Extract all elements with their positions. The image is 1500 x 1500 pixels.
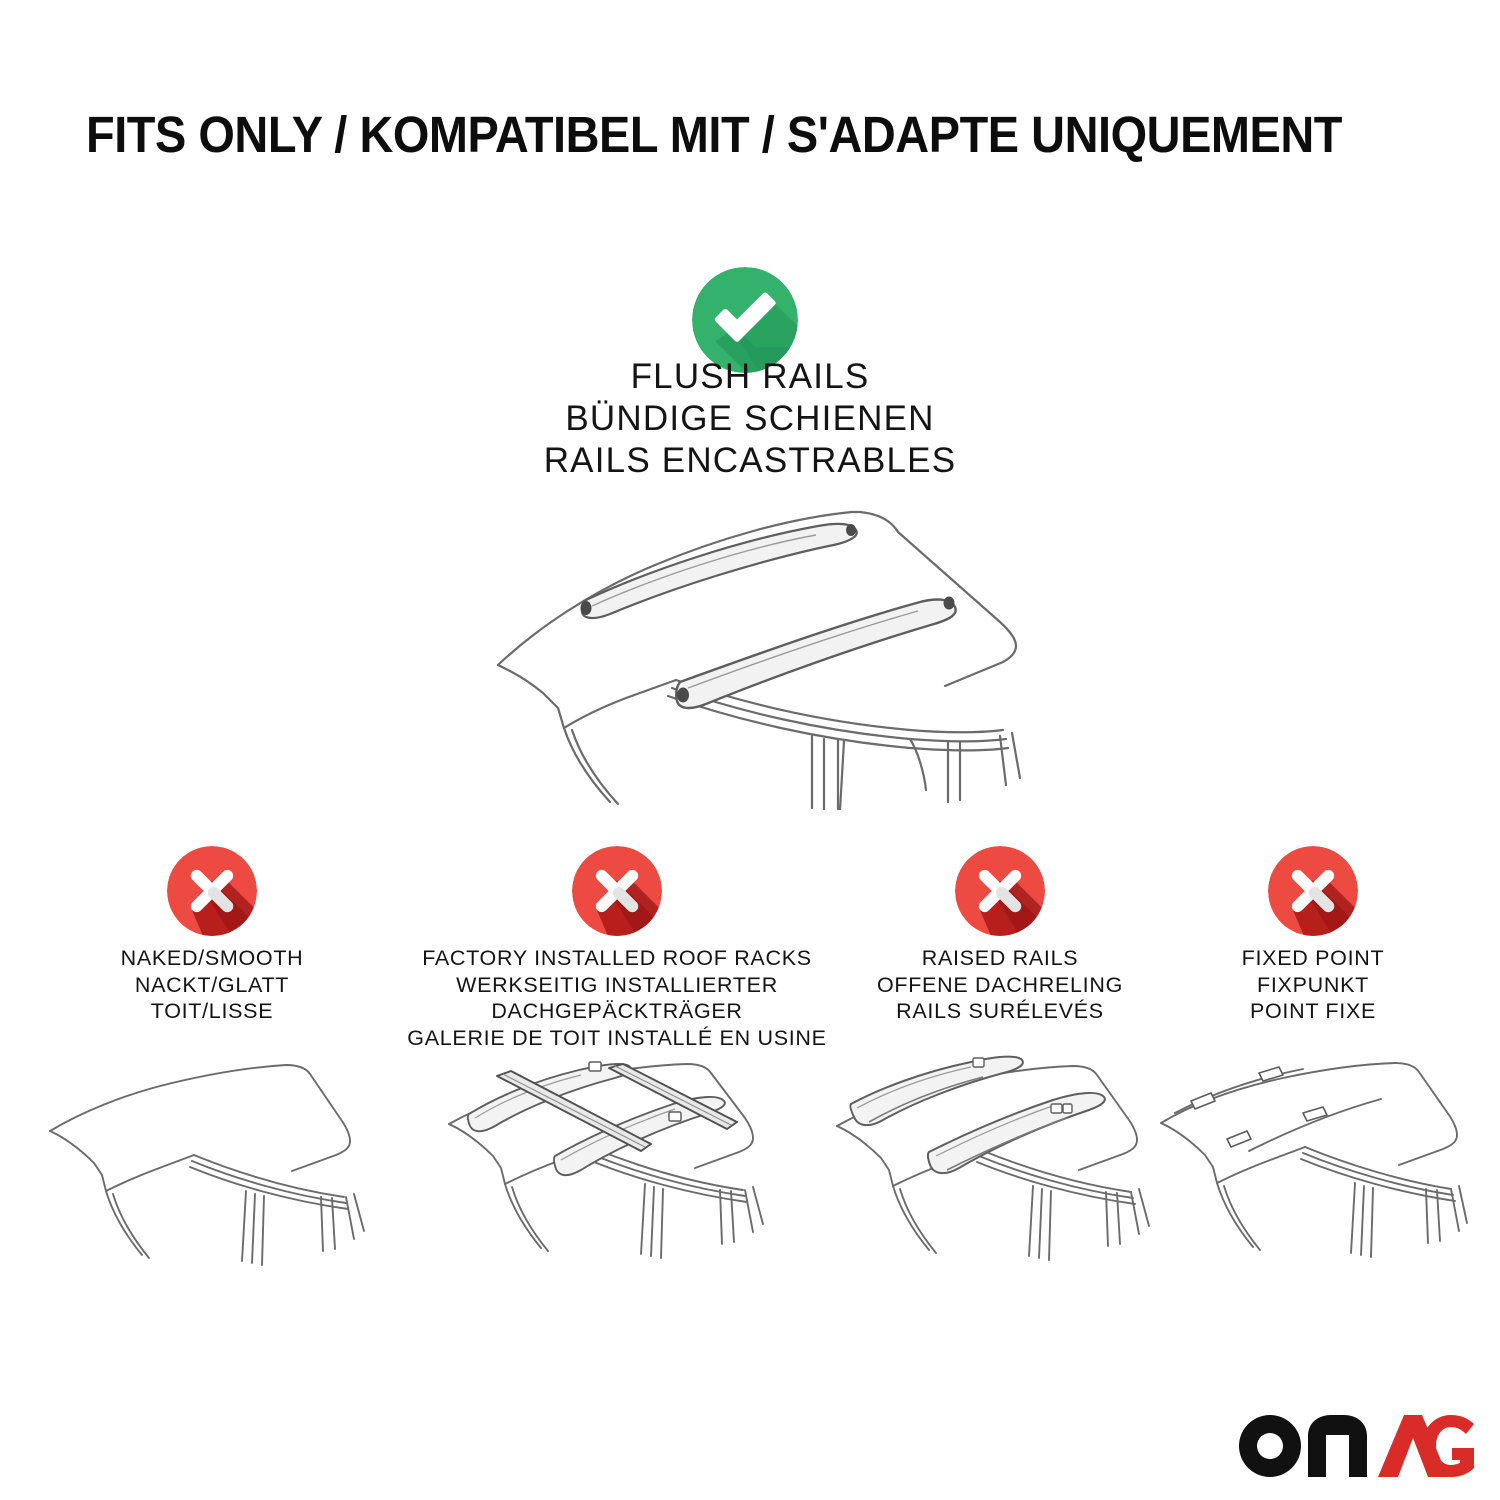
- car-roof-with-flush-rails-illustration: [440, 490, 1060, 810]
- compatible-label-fr: RAILS ENCASTRABLES: [350, 440, 1150, 482]
- column-label: FIXED POINT FIXPUNKT POINT FIXE: [1158, 945, 1468, 1025]
- omac-logo: [1238, 1410, 1474, 1482]
- column-label-en: FIXED POINT: [1158, 945, 1468, 972]
- car-roof-raised-rails-illustration: [825, 1046, 1175, 1281]
- column-label-de: OFFENE DACHRELING: [842, 972, 1158, 999]
- column-label: NAKED/SMOOTH NACKT/GLATT TOIT/LISSE: [32, 945, 392, 1025]
- compatible-label-de: BÜNDIGE SCHIENEN: [350, 398, 1150, 440]
- logo-letter-m: [1308, 1415, 1367, 1477]
- compatible-label: FLUSH RAILS BÜNDIGE SCHIENEN RAILS ENCAS…: [350, 356, 1150, 482]
- car-roof-naked-smooth-illustration: [42, 1051, 382, 1281]
- column-label-fr: RAILS SURÉLEVÉS: [842, 998, 1158, 1025]
- page-title: FITS ONLY / KOMPATIBEL MIT / S'ADAPTE UN…: [86, 106, 1319, 164]
- cross-circle-icon: [955, 846, 1045, 936]
- column-label-fr: TOIT/LISSE: [32, 998, 392, 1025]
- cross-circle-icon: [167, 846, 257, 936]
- column-label-en: RAISED RAILS: [842, 945, 1158, 972]
- column-label-en: NAKED/SMOOTH: [32, 945, 392, 972]
- car-roof-fixed-point-illustration: [1153, 1051, 1473, 1281]
- column-label-de: NACKT/GLATT: [32, 972, 392, 999]
- compatible-label-en: FLUSH RAILS: [350, 356, 1150, 398]
- cross-circle-icon: [1268, 846, 1358, 936]
- column-label-en: FACTORY INSTALLED ROOF RACKS: [392, 945, 842, 972]
- column-label-fr: POINT FIXE: [1158, 998, 1468, 1025]
- column-label-de: FIXPUNKT: [1158, 972, 1468, 999]
- logo-letter-o: [1239, 1415, 1301, 1477]
- infographic-page: FITS ONLY / KOMPATIBEL MIT / S'ADAPTE UN…: [0, 0, 1500, 1500]
- column-label: FACTORY INSTALLED ROOF RACKS WERKSEITIG …: [392, 945, 842, 1051]
- car-roof-factory-roof-racks-illustration: [437, 1046, 797, 1281]
- column-label-de-2: DACHGEPÄCKTRÄGER: [392, 998, 842, 1025]
- column-label: RAISED RAILS OFFENE DACHRELING RAILS SUR…: [842, 945, 1158, 1025]
- cross-circle-icon: [572, 846, 662, 936]
- column-label-de-1: WERKSEITIG INSTALLIERTER: [392, 972, 842, 999]
